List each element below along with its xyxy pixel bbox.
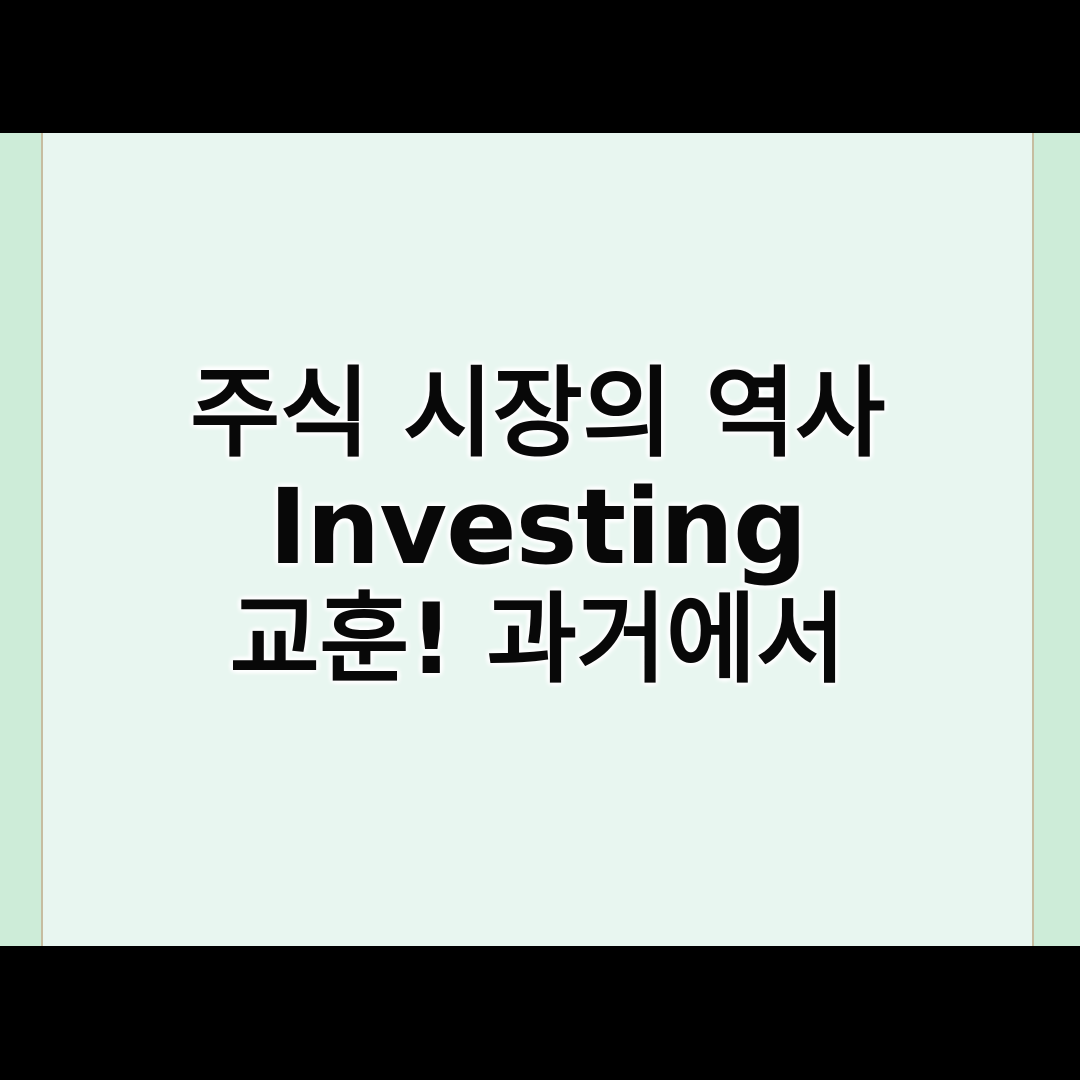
title-line-2: Investing: [61, 469, 1014, 585]
letterbox-bar-bottom: [0, 946, 1080, 1080]
slide-band: 주식 시장의 역사 Investing 교훈! 과거에서: [0, 133, 1080, 946]
slide-card: 주식 시장의 역사 Investing 교훈! 과거에서: [41, 133, 1034, 946]
letterbox-bar-top: [0, 0, 1080, 133]
title-line-3: 교훈! 과거에서: [61, 586, 1014, 696]
thumbnail-screenshot: 주식 시장의 역사 Investing 교훈! 과거에서: [0, 0, 1080, 1080]
title-line-1: 주식 시장의 역사: [61, 360, 1014, 470]
title-block: 주식 시장의 역사 Investing 교훈! 과거에서: [43, 360, 1032, 696]
